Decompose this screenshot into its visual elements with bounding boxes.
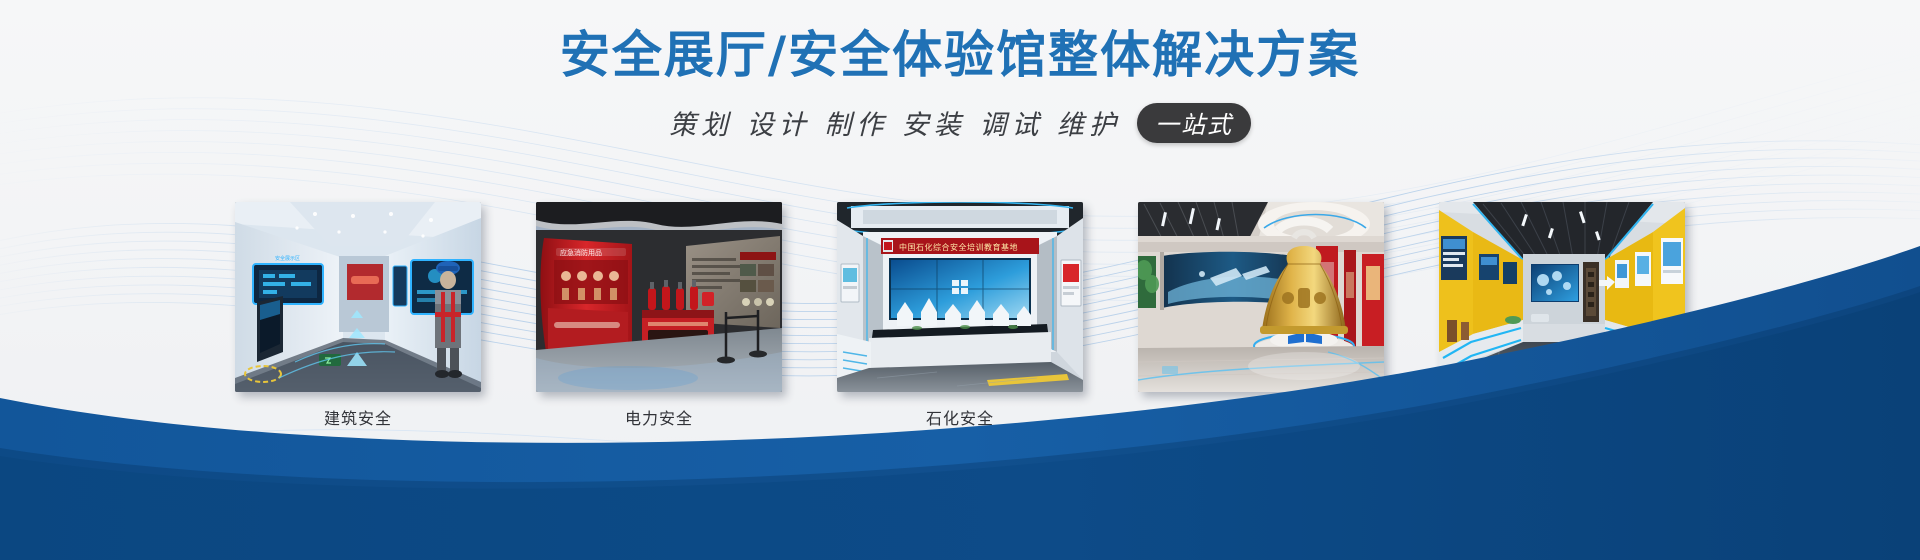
subtitle-text: 策划 设计 制作 安装 调试 维护	[669, 103, 1121, 142]
subtitle-row: 策划 设计 制作 安装 调试 维护 一站式	[0, 103, 1920, 143]
card-power-safety[interactable]: 应急消防用品	[536, 202, 782, 429]
svg-text:安全展示区: 安全展示区	[275, 255, 300, 262]
card-construction-safety[interactable]: 安全展示区	[235, 202, 481, 429]
exhibition-hall-image: 安全展示区	[235, 202, 481, 392]
card-thumbnail[interactable]: 应急消防用品	[536, 202, 782, 392]
card-thumbnail[interactable]: 安全展示区	[235, 202, 481, 392]
promo-banner: 安全展厅/安全体验馆整体解决方案 策划 设计 制作 安装 调试 维护 一站式	[0, 0, 1920, 560]
one-stop-badge: 一站式	[1137, 103, 1251, 143]
card-mining-safety[interactable]: 矿山安全	[1138, 202, 1384, 429]
card-thumbnail[interactable]	[1138, 202, 1384, 392]
card-caption: 建筑安全	[235, 405, 481, 429]
card-caption: 校园安全	[1439, 405, 1685, 429]
exhibition-hall-image: 中国石化综合安全培训教育基地	[837, 202, 1083, 392]
headline-block: 安全展厅/安全体验馆整体解决方案 策划 设计 制作 安装 调试 维护 一站式	[0, 24, 1920, 143]
card-petrochemical-safety[interactable]: 中国石化综合安全培训教育基地	[837, 202, 1083, 429]
page-title: 安全展厅/安全体验馆整体解决方案	[0, 24, 1920, 87]
card-thumbnail[interactable]	[1439, 202, 1685, 392]
exhibition-hall-image: 应急消防用品	[536, 202, 782, 392]
card-caption: 矿山安全	[1138, 405, 1384, 429]
card-campus-safety[interactable]: 校园安全	[1439, 202, 1685, 429]
case-card-list: 安全展示区	[0, 202, 1920, 429]
svg-text:中国石化综合安全培训教育基地: 中国石化综合安全培训教育基地	[899, 242, 1018, 252]
exhibition-hall-image	[1138, 202, 1384, 392]
exhibition-hall-image	[1439, 202, 1685, 392]
card-caption: 石化安全	[837, 405, 1083, 429]
svg-text:应急消防用品: 应急消防用品	[560, 248, 602, 257]
card-thumbnail[interactable]: 中国石化综合安全培训教育基地	[837, 202, 1083, 392]
card-caption: 电力安全	[536, 405, 782, 429]
